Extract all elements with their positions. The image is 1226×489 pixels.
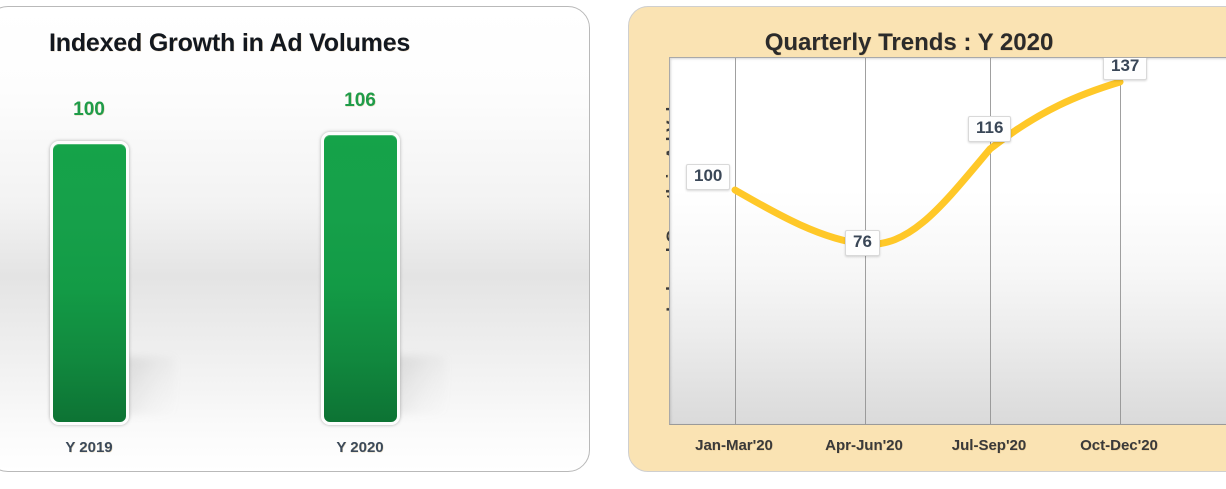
bar-group-y2020: 106 Y 2020 [280,90,440,460]
plot-area: 100 76 116 137 [669,57,1226,425]
data-label-oct-dec: 137 [1103,57,1147,80]
line-chart-panel: Quarterly Trends : Y 2020 Indexed Growth… [628,6,1226,472]
bar-category-label-y2020: Y 2020 [280,439,440,456]
bar-y2019[interactable] [50,141,129,425]
bar-chart-panel: Indexed Growth in Ad Volumes 100 Y 2019 … [0,6,590,472]
x-category-jul-sep: Jul-Sep'20 [929,437,1049,454]
bar-value-label-y2019: 100 [9,99,169,121]
x-category-jan-mar: Jan-Mar'20 [674,437,794,454]
line-path [735,82,1120,244]
bar-category-label-y2019: Y 2019 [9,439,169,456]
data-label-jan-mar: 100 [686,164,730,190]
line-series-svg [670,58,1226,425]
x-category-apr-jun: Apr-Jun'20 [804,437,924,454]
data-label-apr-jun: 76 [845,230,880,256]
x-category-oct-dec: Oct-Dec'20 [1059,437,1179,454]
dual-chart-figure: Indexed Growth in Ad Volumes 100 Y 2019 … [0,0,1226,489]
data-label-jul-sep: 116 [968,116,1011,142]
bar-y2020[interactable] [321,132,400,425]
bar-value-label-y2020: 106 [280,90,440,112]
line-chart-title: Quarterly Trends : Y 2020 [629,29,1189,57]
bar-chart-title: Indexed Growth in Ad Volumes [49,29,469,58]
bar-group-y2019: 100 Y 2019 [9,99,169,459]
